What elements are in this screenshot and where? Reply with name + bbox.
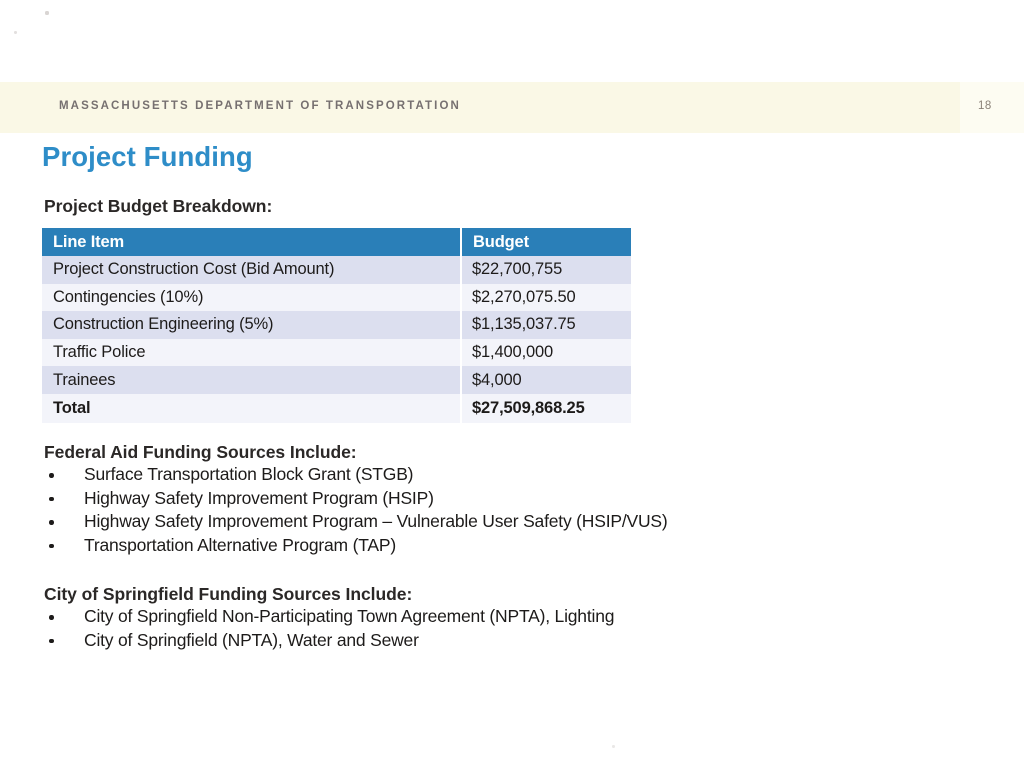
budget-table-head: Line Item Budget [42, 228, 631, 256]
list-item-label: City of Springfield Non-Participating To… [84, 606, 614, 626]
list-item: Highway Safety Improvement Program – Vul… [44, 510, 668, 534]
scan-speckle [45, 11, 49, 15]
bullet-icon [49, 473, 54, 478]
federal-section-heading: Federal Aid Funding Sources Include: [44, 442, 357, 463]
table-row: Traffic Police $1,400,000 [42, 339, 631, 367]
page-number: 18 [978, 100, 992, 112]
list-item-label: Surface Transportation Block Grant (STGB… [84, 464, 413, 484]
table-row-total: Total $27,509,868.25 [42, 394, 631, 423]
list-item: City of Springfield (NPTA), Water and Se… [44, 629, 614, 653]
list-item-label: City of Springfield (NPTA), Water and Se… [84, 630, 419, 650]
bullet-icon [49, 520, 54, 525]
table-header-row: Line Item Budget [42, 228, 631, 256]
list-item-label: Highway Safety Improvement Program (HSIP… [84, 488, 434, 508]
list-item: Surface Transportation Block Grant (STGB… [44, 463, 668, 487]
cell-budget: $1,400,000 [461, 339, 631, 367]
bullet-icon [49, 615, 54, 620]
cell-line-item: Project Construction Cost (Bid Amount) [42, 256, 461, 284]
list-item: Highway Safety Improvement Program (HSIP… [44, 487, 668, 511]
federal-funding-list: Surface Transportation Block Grant (STGB… [44, 463, 668, 557]
cell-budget: $2,270,075.50 [461, 284, 631, 312]
bullet-icon [49, 497, 54, 502]
header-band-right-panel [960, 82, 1024, 133]
scan-speckle [14, 31, 17, 34]
cell-line-item: Contingencies (10%) [42, 284, 461, 312]
budget-table: Line Item Budget Project Construction Co… [42, 228, 631, 423]
table-row: Trainees $4,000 [42, 366, 631, 394]
cell-total-label: Total [42, 394, 461, 423]
table-row: Construction Engineering (5%) $1,135,037… [42, 311, 631, 339]
cell-budget: $1,135,037.75 [461, 311, 631, 339]
scan-speckle [612, 745, 615, 748]
city-section-heading: City of Springfield Funding Sources Incl… [44, 584, 412, 605]
list-item-label: Transportation Alternative Program (TAP) [84, 535, 396, 555]
cell-total-budget: $27,509,868.25 [461, 394, 631, 423]
table-row: Project Construction Cost (Bid Amount) $… [42, 256, 631, 284]
cell-budget: $22,700,755 [461, 256, 631, 284]
page-title: Project Funding [42, 141, 253, 173]
list-item: City of Springfield Non-Participating To… [44, 605, 614, 629]
budget-section-heading: Project Budget Breakdown: [44, 196, 272, 217]
column-header-budget: Budget [461, 228, 631, 256]
list-item-label: Highway Safety Improvement Program – Vul… [84, 511, 668, 531]
list-item: Transportation Alternative Program (TAP) [44, 534, 668, 558]
cell-line-item: Construction Engineering (5%) [42, 311, 461, 339]
column-header-line-item: Line Item [42, 228, 461, 256]
budget-table-body: Project Construction Cost (Bid Amount) $… [42, 256, 631, 423]
cell-line-item: Trainees [42, 366, 461, 394]
cell-budget: $4,000 [461, 366, 631, 394]
bullet-icon [49, 639, 54, 644]
bullet-icon [49, 544, 54, 549]
slide-page: MASSACHUSETTS DEPARTMENT OF TRANSPORTATI… [0, 0, 1024, 768]
city-funding-list: City of Springfield Non-Participating To… [44, 605, 614, 652]
table-row: Contingencies (10%) $2,270,075.50 [42, 284, 631, 312]
cell-line-item: Traffic Police [42, 339, 461, 367]
organization-name: MASSACHUSETTS DEPARTMENT OF TRANSPORTATI… [59, 100, 461, 112]
